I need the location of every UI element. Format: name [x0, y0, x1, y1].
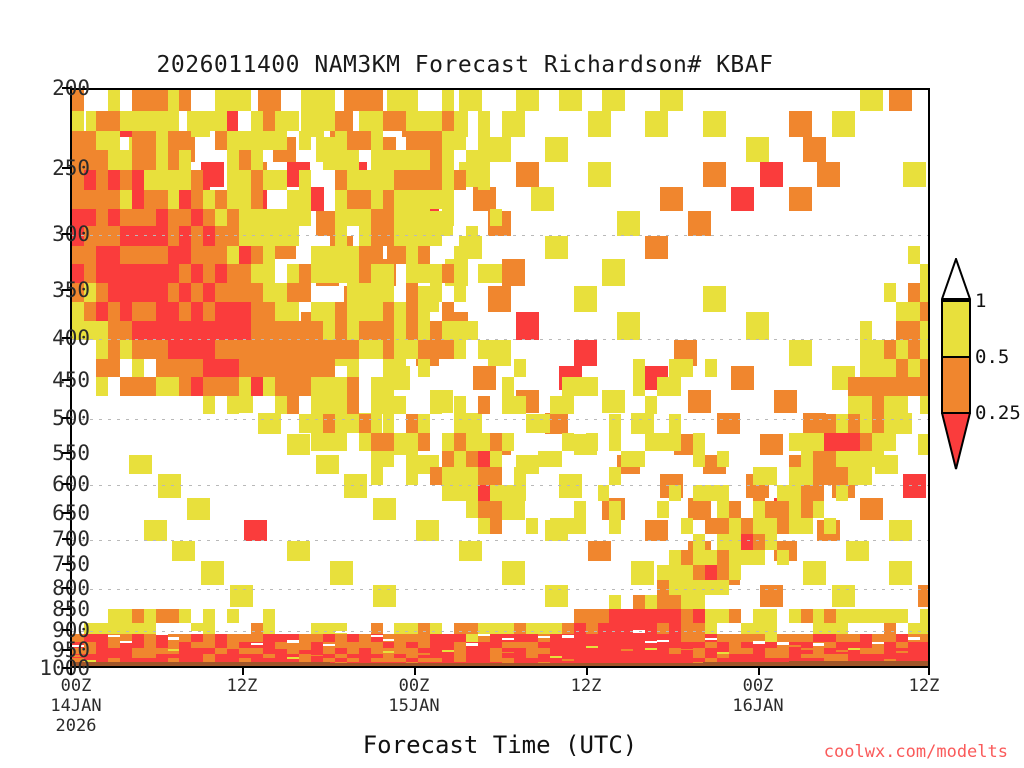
heatmap-cell	[765, 534, 777, 549]
heatmap-cell	[132, 150, 144, 171]
heatmap-cell	[657, 377, 669, 396]
heatmap-cell	[215, 321, 227, 339]
heatmap-cell	[120, 283, 132, 301]
heatmap-cell	[454, 485, 466, 501]
heatmap-cell	[406, 209, 418, 227]
heatmap-cell	[705, 518, 717, 534]
heatmap-cell	[588, 162, 611, 188]
heatmap-cell	[908, 302, 920, 321]
heatmap-cell	[803, 561, 826, 585]
heatmap-cell	[574, 609, 586, 623]
x-axis-label: Forecast Time (UTC)	[70, 731, 930, 759]
heatmap-cell	[454, 246, 466, 264]
heatmap-cell	[884, 377, 896, 396]
heatmap-cell	[442, 131, 454, 150]
heatmap-cell	[275, 209, 287, 227]
gridline	[72, 235, 928, 236]
heatmap-cell	[227, 340, 239, 359]
heatmap-cell	[516, 90, 539, 111]
heatmap-cell	[824, 451, 836, 468]
heatmap-cell	[316, 455, 339, 474]
heatmap-cell	[347, 190, 359, 209]
heatmap-cell	[311, 246, 323, 264]
colorbar-label: 0.5	[975, 346, 1009, 368]
heatmap-cell	[645, 648, 657, 650]
heatmap-cell	[227, 170, 239, 190]
heatmap-cell	[168, 359, 180, 377]
heatmap-cell	[168, 649, 180, 651]
heatmap-cell	[681, 518, 693, 534]
heatmap-cell	[872, 433, 884, 451]
heatmap-cell	[418, 111, 430, 131]
heatmap-cell	[299, 190, 311, 209]
heatmap-cell	[215, 90, 227, 111]
heatmap-cell	[824, 623, 836, 634]
heatmap-cell	[645, 396, 657, 414]
heatmap-cell	[311, 264, 323, 283]
heatmap-cell	[478, 634, 490, 636]
heatmap-cell	[717, 451, 729, 468]
heatmap-cell	[430, 283, 442, 301]
heatmap-cell	[908, 283, 920, 301]
heatmap-cell	[179, 264, 191, 283]
heatmap-cell	[323, 321, 335, 339]
heatmap-cell	[669, 433, 681, 451]
heatmap-cell	[908, 623, 920, 634]
heatmap-cell	[550, 518, 562, 534]
heatmap-cell	[299, 321, 311, 339]
heatmap-cell	[132, 359, 144, 377]
heatmap-cell	[359, 190, 371, 209]
heatmap-cell	[287, 321, 299, 339]
heatmap-cell	[884, 433, 896, 451]
heatmap-cell	[801, 634, 813, 642]
heatmap-cell	[311, 634, 323, 642]
heatmap-cell	[920, 321, 930, 339]
heatmap-cell	[144, 623, 156, 634]
heatmap-cell	[108, 209, 120, 227]
heatmap-cell	[693, 433, 705, 451]
heatmap-cell	[132, 190, 144, 209]
heatmap-cell	[132, 634, 144, 642]
x-tick-mark	[758, 668, 760, 675]
heatmap-cell	[120, 209, 132, 227]
heatmap-cell	[660, 187, 683, 211]
heatmap-cell	[872, 359, 884, 377]
heatmap-cell	[203, 209, 215, 227]
heatmap-cell	[299, 377, 311, 396]
heatmap-cell	[275, 634, 287, 642]
heatmap-cell	[824, 433, 836, 451]
heatmap-cell	[251, 643, 263, 645]
heatmap-cell	[156, 209, 168, 227]
heatmap-cell	[693, 550, 705, 566]
heatmap-cell	[215, 340, 227, 359]
heatmap-cell	[488, 286, 511, 311]
heatmap-cell	[287, 340, 299, 359]
heatmap-cell	[478, 131, 490, 150]
heatmap-cell	[373, 498, 396, 521]
heatmap-cell	[669, 634, 681, 642]
heatmap-cell	[860, 498, 883, 521]
heatmap-cell	[120, 641, 132, 643]
heatmap-cell	[156, 283, 168, 301]
heatmap-cell	[872, 377, 884, 396]
heatmap-cell	[717, 501, 729, 518]
heatmap-cell	[179, 283, 191, 301]
heatmap-cell	[430, 190, 442, 209]
heatmap-cell	[72, 190, 84, 209]
heatmap-cell	[359, 634, 371, 642]
heatmap-cell	[502, 259, 525, 286]
heatmap-cell	[406, 467, 418, 484]
heatmap-cell	[765, 501, 777, 518]
heatmap-cell	[335, 340, 347, 359]
heatmap-cell	[466, 433, 478, 451]
heatmap-cell	[96, 111, 108, 131]
terrain-segment	[559, 663, 702, 666]
heatmap-cell	[633, 634, 645, 642]
heatmap-cell	[394, 396, 406, 414]
heatmap-cell	[669, 623, 681, 634]
heatmap-cell	[371, 209, 383, 227]
heatmap-cell	[383, 451, 395, 468]
heatmap-cell	[645, 236, 668, 259]
heatmap-cell	[215, 302, 227, 321]
heatmap-cell	[514, 634, 526, 642]
heatmap-cell	[251, 131, 263, 150]
heatmap-cell	[848, 609, 860, 623]
heatmap-cell	[884, 414, 896, 433]
heatmap-cell	[347, 634, 359, 642]
heatmap-cell	[394, 170, 406, 190]
heatmap-cell	[860, 414, 872, 433]
heatmap-cell	[760, 434, 783, 454]
heatmap-cell	[903, 162, 926, 188]
heatmap-cell	[323, 264, 335, 283]
heatmap-cell	[884, 623, 896, 634]
x-tick-time: 00Z	[61, 676, 92, 696]
x-tick-mark	[928, 668, 930, 675]
heatmap-cell	[729, 534, 741, 549]
heatmap-cell	[609, 467, 621, 484]
colorbar-label: 0.25	[975, 402, 1021, 424]
heatmap-cell	[239, 340, 251, 359]
heatmap-cell	[617, 312, 640, 340]
heatmap-cell	[191, 209, 203, 227]
y-tick-label: 600	[52, 472, 90, 496]
heatmap-cell	[144, 377, 156, 396]
heatmap-cell	[741, 623, 753, 634]
heatmap-cell	[244, 520, 267, 541]
heatmap-cell	[717, 485, 729, 501]
heatmap-cell	[705, 359, 717, 377]
heatmap-cell	[574, 377, 586, 396]
heatmap-cell	[848, 377, 860, 396]
heatmap-cell	[108, 283, 120, 301]
heatmap-cell	[502, 623, 514, 634]
heatmap-cell	[729, 565, 741, 580]
heatmap-cell	[466, 90, 478, 111]
heatmap-cell	[478, 467, 490, 484]
heatmap-cell	[383, 150, 395, 171]
heatmap-cell	[371, 377, 383, 396]
heatmap-cell	[132, 90, 144, 111]
x-tick-time: 12Z	[909, 676, 940, 696]
heatmap-cell	[406, 414, 418, 433]
heatmap-cell	[801, 433, 813, 451]
heatmap-cell	[872, 642, 884, 644]
heatmap-cell	[681, 550, 693, 566]
heatmap-cell	[227, 634, 239, 642]
heatmap-cell	[275, 170, 287, 190]
colorbar-segment-yellow	[941, 300, 971, 356]
heatmap-cell	[191, 302, 203, 321]
heatmap-cell	[359, 90, 371, 111]
heatmap-cell	[633, 451, 645, 468]
heatmap-cell	[418, 634, 430, 642]
heatmap-cell	[144, 340, 156, 359]
heatmap-cell	[466, 150, 478, 171]
heatmap-cell	[371, 321, 383, 339]
heatmap-cell	[323, 433, 335, 451]
heatmap-cell	[801, 451, 813, 468]
heatmap-cell	[335, 396, 347, 414]
heatmap-cell	[693, 451, 705, 468]
heatmap-cell	[394, 111, 406, 131]
heatmap-cell	[884, 609, 896, 623]
heatmap-cell	[144, 209, 156, 227]
heatmap-cell	[347, 359, 359, 377]
heatmap-cell	[920, 283, 930, 301]
heatmap-cell	[227, 150, 239, 171]
heatmap-cell	[872, 414, 884, 433]
y-tick-mark	[62, 563, 70, 565]
y-tick-label: 550	[52, 441, 90, 465]
heatmap-cell	[645, 641, 657, 643]
heatmap-cell	[777, 550, 789, 566]
heatmap-cell	[681, 634, 693, 642]
heatmap-cell	[538, 623, 550, 634]
heatmap-cell	[323, 623, 335, 634]
heatmap-cell	[215, 209, 227, 227]
heatmap-cell	[538, 451, 550, 468]
heatmap-cell	[251, 246, 263, 264]
heatmap-cell	[418, 359, 430, 377]
heatmap-cell	[179, 340, 191, 359]
heatmap-cell	[191, 170, 203, 190]
heatmap-cell	[275, 302, 287, 321]
heatmap-cell	[669, 609, 681, 623]
heatmap-cell	[765, 518, 777, 534]
heatmap-cell	[383, 433, 395, 451]
heatmap-cell	[406, 264, 418, 283]
heatmap-cell	[335, 209, 347, 227]
heatmap-cell	[703, 111, 726, 137]
heatmap-cell	[108, 150, 120, 171]
heatmap-cell	[920, 264, 930, 283]
heatmap-cell	[323, 150, 335, 171]
heatmap-cell	[836, 485, 848, 501]
heatmap-cell	[693, 634, 705, 642]
heatmap-cell	[132, 111, 144, 131]
heatmap-cell	[490, 485, 502, 501]
heatmap-cell	[383, 359, 395, 377]
heatmap-cell	[394, 634, 406, 642]
heatmap-cell	[227, 246, 239, 264]
heatmap-cell	[545, 236, 568, 259]
heatmap-cell	[96, 623, 108, 634]
heatmap-cell	[371, 283, 383, 301]
heatmap-cell	[335, 264, 347, 283]
heatmap-cell	[801, 609, 813, 623]
heatmap-cell	[753, 467, 765, 484]
heatmap-cell	[832, 111, 855, 137]
heatmap-cell	[168, 131, 180, 150]
heatmap-cell	[406, 190, 418, 209]
heatmap-cell	[394, 433, 406, 451]
heatmap-cell	[275, 111, 287, 131]
heatmap-cell	[705, 485, 717, 501]
heatmap-cell	[179, 377, 191, 396]
heatmap-cell	[466, 643, 478, 645]
heatmap-cell	[347, 659, 359, 661]
heatmap-cell	[872, 609, 884, 623]
y-tick-mark	[62, 87, 70, 89]
heatmap-cell	[227, 359, 239, 377]
colorbar-divider	[941, 300, 971, 302]
y-tick-label: 400	[52, 326, 90, 350]
heatmap-cell	[717, 609, 729, 623]
heatmap-cell	[359, 340, 371, 359]
x-tick-label: 00Z16JAN	[732, 676, 783, 716]
heatmap-cell	[84, 190, 96, 209]
heatmap-cell	[132, 264, 144, 283]
heatmap-cell	[239, 634, 251, 642]
heatmap-cell	[311, 414, 323, 433]
heatmap-cell	[406, 131, 418, 150]
heatmap-cell	[657, 565, 669, 580]
heatmap-cell	[239, 131, 251, 150]
heatmap-cell	[586, 377, 598, 396]
heatmap-cell	[466, 485, 478, 501]
heatmap-cell	[657, 433, 669, 451]
heatmap-cell	[884, 634, 896, 642]
heatmap-cell	[215, 377, 227, 396]
heatmap-cell	[120, 623, 132, 634]
heatmap-cell	[201, 162, 224, 188]
heatmap-cell	[215, 634, 227, 642]
x-tick-mark	[242, 668, 244, 675]
heatmap-cell	[287, 377, 299, 396]
heatmap-cell	[120, 150, 132, 171]
heatmap-cell	[108, 264, 120, 283]
heatmap-cell	[394, 190, 406, 209]
heatmap-cell	[168, 377, 180, 396]
heatmap-cell	[717, 550, 729, 566]
heatmap-cell	[168, 170, 180, 190]
gridline	[72, 589, 928, 590]
heatmap-cell	[371, 170, 383, 190]
heatmap-cell	[418, 264, 430, 283]
heatmap-cell	[323, 111, 335, 131]
heatmap-cell	[203, 190, 215, 209]
heatmap-cell	[645, 595, 657, 609]
gridline	[72, 631, 928, 632]
heatmap-cell	[681, 649, 693, 651]
heatmap-cell	[156, 131, 168, 150]
heatmap-cell	[760, 162, 783, 188]
heatmap-cell	[168, 609, 180, 623]
heatmap-cell	[466, 501, 478, 518]
heatmap-cell	[418, 246, 430, 264]
heatmap-cell	[275, 377, 287, 396]
heatmap-cell	[789, 609, 801, 623]
heatmap-cell	[406, 321, 418, 339]
heatmap-cell	[514, 623, 526, 634]
heatmap-cell	[383, 264, 395, 283]
heatmap-cell	[275, 396, 287, 414]
y-tick-label: 800	[52, 576, 90, 600]
heatmap-cell	[335, 377, 347, 396]
heatmap-cell	[896, 359, 908, 377]
heatmap-cell	[406, 340, 418, 359]
heatmap-cell	[562, 518, 574, 534]
heatmap-cell	[442, 650, 454, 652]
heatmap-cell	[729, 634, 741, 642]
heatmap-cell	[108, 321, 120, 339]
heatmap-cell	[263, 321, 275, 339]
heatmap-cell	[442, 467, 454, 484]
heatmap-cell	[132, 321, 144, 339]
heatmap-cell	[430, 150, 442, 171]
y-tick-mark	[62, 649, 70, 651]
heatmap-cell	[418, 131, 430, 150]
heatmap-cell	[287, 111, 299, 131]
heatmap-cell	[860, 451, 872, 468]
heatmap-cell	[371, 90, 383, 111]
heatmap-cell	[817, 162, 840, 188]
heatmap-cell	[108, 111, 120, 131]
heatmap-cell	[203, 302, 215, 321]
heatmap-cell	[251, 302, 263, 321]
heatmap-cell	[824, 634, 836, 642]
heatmap-cell	[669, 359, 681, 377]
heatmap-cell	[920, 340, 930, 359]
heatmap-cell	[394, 302, 406, 321]
heatmap-cell	[562, 635, 574, 637]
y-tick-label: 700	[52, 527, 90, 551]
heatmap-cell	[860, 396, 872, 414]
heatmap-cell	[860, 467, 872, 484]
heatmap-cell	[359, 283, 371, 301]
y-tick-mark	[62, 538, 70, 540]
heatmap-cell	[323, 246, 335, 264]
heatmap-cell	[144, 283, 156, 301]
heatmap-cells	[72, 90, 928, 666]
heatmap-cell	[263, 377, 275, 396]
heatmap-cell	[705, 550, 717, 566]
heatmap-cell	[371, 111, 383, 131]
heatmap-cell	[187, 498, 210, 521]
heatmap-cell	[478, 451, 490, 468]
heatmap-cell	[311, 433, 323, 451]
heatmap-cell	[191, 190, 203, 209]
heatmap-cell	[442, 90, 454, 111]
heatmap-cell	[203, 111, 215, 131]
heatmap-cell	[258, 90, 281, 111]
heatmap-cell	[896, 651, 908, 653]
